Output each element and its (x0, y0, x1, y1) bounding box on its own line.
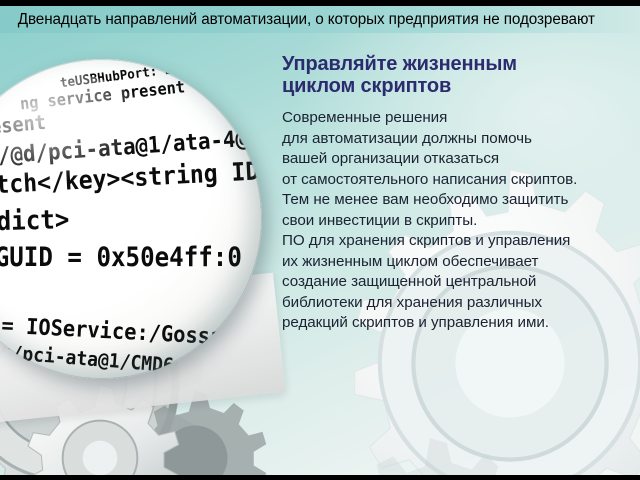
slide-stage: es Untitled 2010 for 14, nin teUSBHubPor… (0, 33, 640, 476)
text-column: Управляйте жизненным циклом скриптов Сов… (282, 53, 634, 334)
gear-mid-icon (330, 428, 530, 476)
body-line: Современные решения (282, 108, 634, 129)
header-band: Двенадцать направлений автоматизации, о … (0, 6, 640, 33)
slide-title-line: циклом скриптов (282, 75, 634, 97)
body-line: для автоматизации должны помочь (282, 129, 634, 150)
body-line: от самостоятельного написания скриптов. (282, 170, 634, 191)
body-line: Тем не менее вам необходимо защитить (282, 190, 634, 211)
slide-title: Управляйте жизненным циклом скриптов (282, 53, 634, 97)
body-line: вашей организации отказаться (282, 149, 634, 170)
slide-canvas: Двенадцать направлений автоматизации, о … (0, 0, 640, 480)
code-line: present (0, 111, 47, 141)
header-title: Двенадцать направлений автоматизации, о … (0, 11, 595, 29)
body-line: библиотеки для хранения различных (282, 293, 634, 314)
body-line: редакций скриптов и управления ими. (282, 313, 634, 334)
body-line: свои инвестиции в скрипты. (282, 211, 634, 232)
body-line: создание защищенной центральной (282, 272, 634, 293)
body-line: ПО для хранения скриптов и управления (282, 231, 634, 252)
slide-body: Современные решения для автоматизации до… (282, 108, 634, 334)
code-line: Wire GUID = 0x50e4ff:0 (0, 243, 242, 273)
slide-title-line: Управляйте жизненным (282, 53, 634, 75)
magnifier-lens-content: teUSBHubPort: b ng service present prese… (0, 59, 262, 379)
body-line: их жизненным циклом обеспечивает (282, 252, 634, 273)
code-line: ng></dict> (0, 205, 70, 238)
bottom-black-bar (0, 475, 640, 480)
magnifier-lens: teUSBHubPort: b ng service present prese… (0, 59, 262, 379)
